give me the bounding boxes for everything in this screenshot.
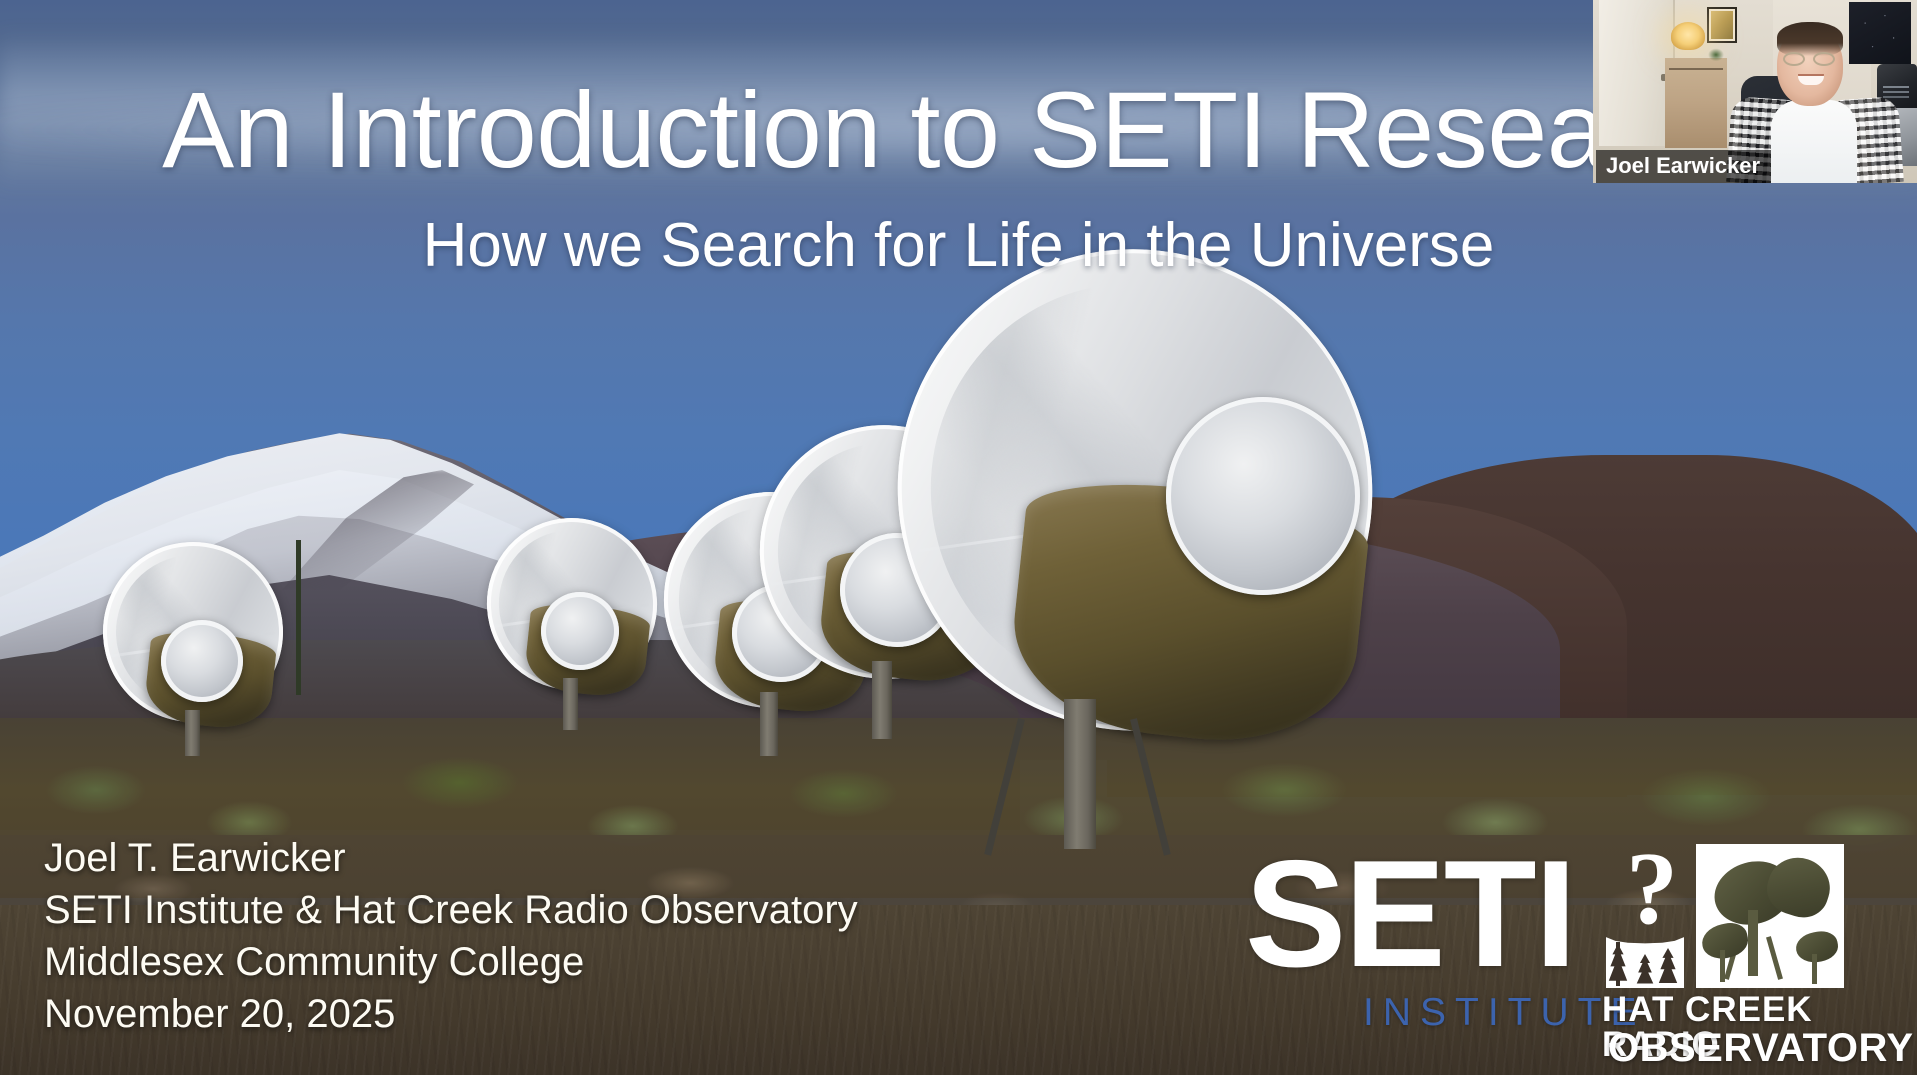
dish-mast (1064, 699, 1096, 849)
webcam-picture-frame (1707, 7, 1737, 43)
webcam-dresser (1665, 58, 1727, 148)
byline-date: November 20, 2025 (44, 988, 1044, 1040)
participant-name-label: Joel Earwicker (1596, 150, 1771, 183)
webcam-door (1599, 0, 1675, 146)
pine-tree-icon (1608, 944, 1628, 984)
webcam-plant (1705, 44, 1727, 62)
seti-institute-logo: SETI INSTITUTE (1245, 838, 1575, 1053)
seti-wordmark: SETI (1245, 838, 1575, 990)
hcro-dish-photo-icon (1696, 844, 1844, 988)
radio-dish-5 (898, 249, 1372, 731)
slide-byline-block: Joel T. Earwicker SETI Institute & Hat C… (44, 832, 1044, 1040)
pine-tree-icon (1658, 948, 1678, 986)
screen-share-stage: An Introduction to SETI Research How we … (0, 0, 1917, 1075)
webcam-wall-art (1849, 2, 1911, 64)
dish-subreflector (541, 592, 619, 670)
glasses-icon (1781, 52, 1839, 66)
dish-mast (760, 692, 778, 756)
dish-subreflector (161, 620, 243, 702)
radio-dish-2 (487, 518, 657, 690)
webcam-video-tile[interactable]: Joel Earwicker (1593, 0, 1917, 183)
slide-subtitle: How we Search for Life in the Universe (0, 215, 1917, 277)
dish-mast (185, 710, 200, 756)
dish-subreflector (1166, 397, 1360, 595)
webcam-desk-lamp (1671, 22, 1705, 50)
dish-mast (563, 678, 578, 730)
webcam-hair (1777, 22, 1843, 56)
dish-mast (872, 661, 892, 739)
webcam-shirt (1771, 100, 1857, 183)
hat-creek-radio-observatory-logo: ? HAT CREEK RADIO OBSERVATORY (1598, 840, 1898, 1070)
radio-dish-1 (103, 542, 283, 722)
pine-tree-icon (1636, 954, 1654, 986)
byline-presenter-name: Joel T. Earwicker (44, 832, 1044, 884)
byline-affiliation: SETI Institute & Hat Creek Radio Observa… (44, 884, 1044, 936)
pine-tree (296, 540, 301, 695)
byline-venue: Middlesex Community College (44, 936, 1044, 988)
question-mark-icon: ? (1626, 846, 1698, 932)
hcro-title-line2: OBSERVATORY (1608, 1028, 1914, 1068)
